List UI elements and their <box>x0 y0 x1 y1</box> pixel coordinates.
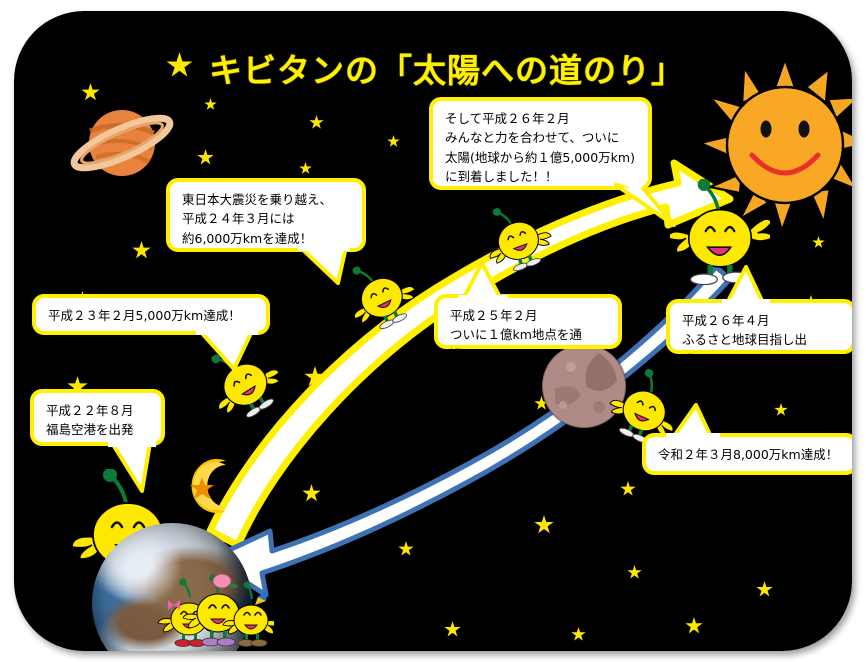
balloon-2012-03[interactable]: 東日本大震災を乗り越え、 平成２４年３月には 約6,000万kmを達成！ <box>166 178 366 252</box>
balloon-tail-2012 <box>294 243 364 289</box>
balloon-tail-2013 <box>454 261 514 305</box>
crescent-moon-with-star <box>180 455 248 517</box>
saturn-planet <box>66 87 178 199</box>
space-background: キビタンの「太陽への道のり」 <box>14 11 852 651</box>
poster-root: キビタンの「太陽への道のり」 <box>0 0 866 662</box>
balloon-tail-2020 <box>662 403 726 443</box>
balloon-tail-2010 <box>106 439 176 497</box>
balloon-2014-02-arrival[interactable]: そして平成２６年２月 みんなと力を合わせて、ついに 太陽(地球から約１億5,00… <box>429 97 652 190</box>
kibitan-family-group <box>156 567 274 651</box>
balloon-tail-2014-04 <box>720 265 774 309</box>
balloon-tail-2011 <box>194 327 274 375</box>
balloon-2010-08[interactable]: 平成２２年８月 福島空港を出発 <box>30 389 165 446</box>
balloon-tail-arrival <box>612 181 702 231</box>
